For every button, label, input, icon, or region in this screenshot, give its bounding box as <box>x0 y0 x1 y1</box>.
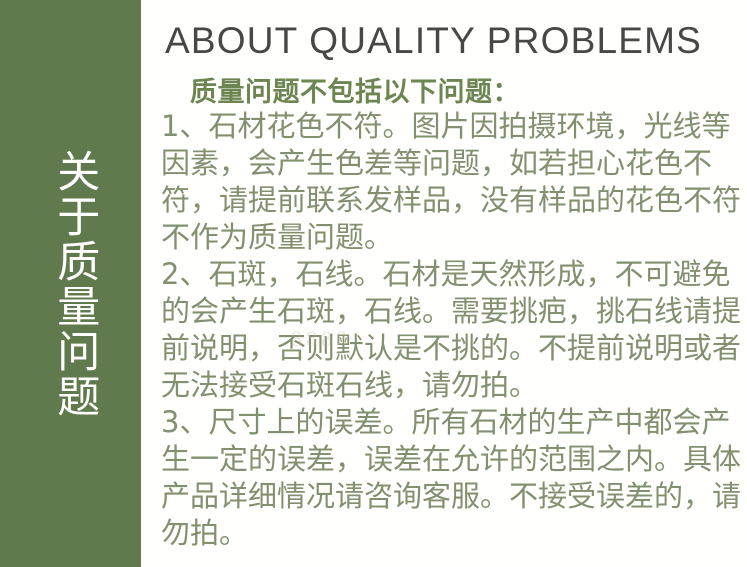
section-subtitle: 质量问题不包括以下问题： <box>190 70 520 109</box>
paragraph-item-2: 2、石斑，石线。石材是天然形成，不可避免的会产生石斑，石线。需要挑疤，挑石线请提… <box>161 256 747 404</box>
paragraph-item-3: 3、尺寸上的误差。所有石材的生产中都会产生一定的误差，误差在允许的范围之内。具体… <box>161 404 747 552</box>
watermark-bottom: 。。。。。。。。。。。。。。。。 <box>155 552 451 567</box>
quality-problems-banner: 关于质量问题 ABOUT QUALITY PROBLEMS 质量问题不包括以下问… <box>0 0 747 567</box>
paragraph-item-1: 1、石材花色不符。图片因拍摄环境，光线等因素，会产生色差等问题，如若担心花色不符… <box>161 108 747 256</box>
sidebar-vertical-title: 关于质量问题 <box>51 149 97 419</box>
content-panel: ABOUT QUALITY PROBLEMS 质量问题不包括以下问题： 1、石材… <box>141 0 747 567</box>
page-title: ABOUT QUALITY PROBLEMS <box>165 20 702 62</box>
body-text-block: 1、石材花色不符。图片因拍摄环境，光线等因素，会产生色差等问题，如若担心花色不符… <box>161 108 747 552</box>
sidebar-panel: 关于质量问题 <box>0 0 141 567</box>
